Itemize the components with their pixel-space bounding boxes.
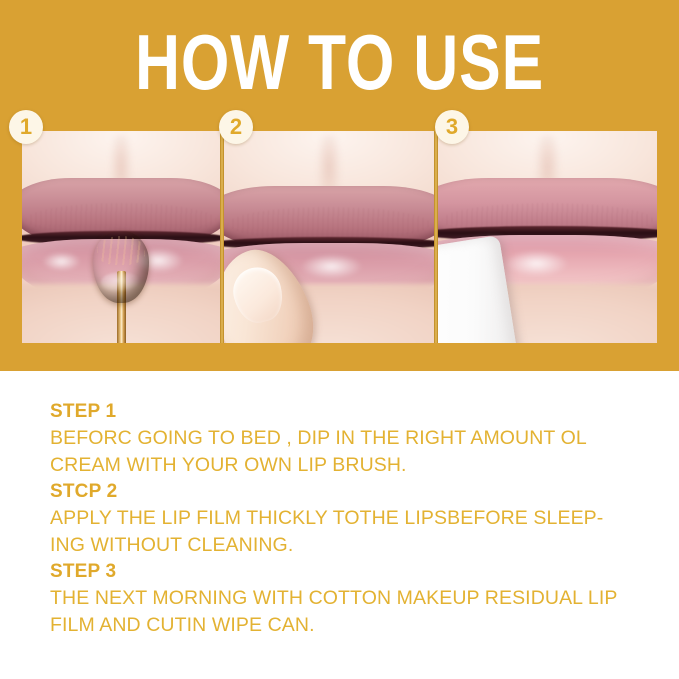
page-title: HOW TO USE [68,26,611,98]
applicator-head-icon [93,231,149,303]
step-3-heading: STEP 3 [50,559,633,585]
photo-panel-3 [438,131,657,343]
step-1-heading: STEP 1 [50,399,633,425]
instructions-section: STEP 1 BEFORC GOING TO BED , DIP IN THE … [0,371,679,679]
fingernail [228,262,288,327]
lower-lip-gloss [300,254,363,279]
lips-photo-1 [22,131,220,343]
step-badge-1: 1 [9,110,43,144]
step-badge-2: 2 [219,110,253,144]
instruction-step-3: STEP 3 THE NEXT MORNING WITH COTTON MAKE… [50,559,633,639]
instruction-step-2: STCP 2 APPLY THE LIP FILM THICKLY TOTHE … [50,479,633,559]
photo-panel-2 [224,131,434,343]
step-2-heading: STCP 2 [50,479,633,505]
photo-strip [22,131,657,343]
step-badge-3: 3 [435,110,469,144]
header-banner: HOW TO USE [0,0,679,371]
photo-panel-1 [22,131,220,343]
step-1-body: BEFORC GOING TO BED , DIP IN THE RIGHT A… [50,425,633,479]
lower-lip-gloss-2 [42,252,82,271]
instruction-step-1: STEP 1 BEFORC GOING TO BED , DIP IN THE … [50,399,633,479]
lips-photo-2 [224,131,434,343]
step-3-body: THE NEXT MORNING WITH COTTON MAKEUP RESI… [50,585,633,639]
lips-photo-3 [438,131,657,343]
step-2-body: APPLY THE LIP FILM THICKLY TOTHE LIPSBEF… [50,505,633,559]
